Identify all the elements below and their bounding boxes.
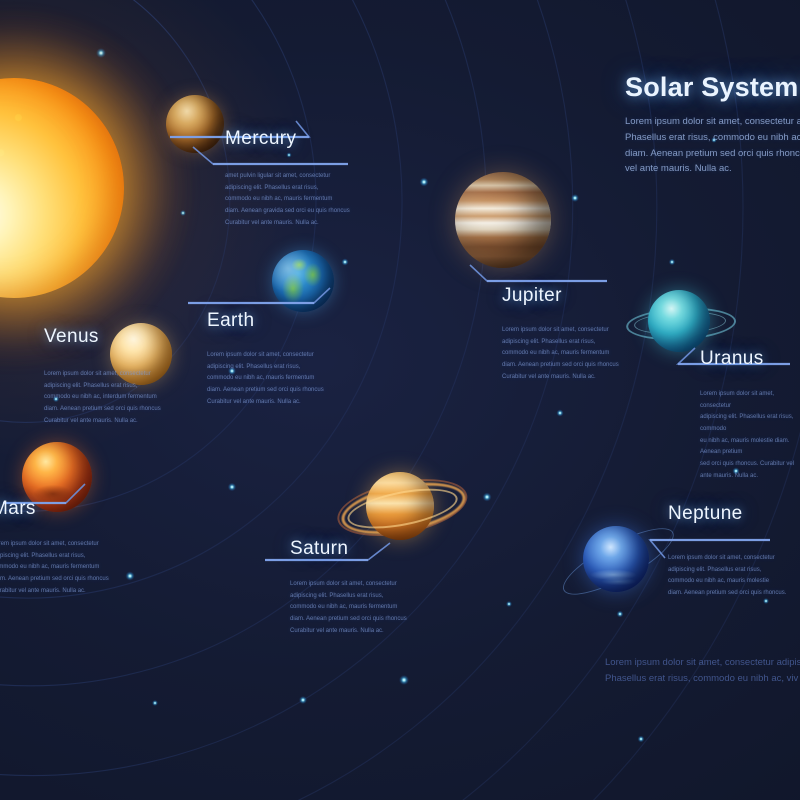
planet-earth[interactable] [272,250,334,312]
planet-jupiter[interactable] [455,172,551,268]
label-mercury[interactable]: Mercury amet pulvin ligular sit amet, co… [225,128,350,229]
label-earth-body: Lorem ipsum dolor sit amet, consectetur … [207,350,324,408]
label-jupiter[interactable]: Jupiter Lorem ipsum dolor sit amet, cons… [502,285,619,383]
solar-system-infographic: Mercury amet pulvin ligular sit amet, co… [0,0,800,800]
planet-mercury[interactable] [166,95,224,153]
label-venus-name: Venus [44,326,161,348]
label-mars[interactable]: Mars Lorem ipsum dolor sit amet, consect… [0,498,109,597]
title-description: Lorem ipsum dolor sit amet, consectetur … [625,114,800,177]
footer-description: Lorem ipsum dolor sit amet, consectetur … [605,655,800,687]
label-mercury-name: Mercury [225,128,350,150]
sun [0,78,124,298]
label-mars-name: Mars [0,498,109,520]
planet-neptune[interactable] [583,526,649,592]
planet-uranus[interactable] [648,290,710,352]
label-saturn-body: Lorem ipsum dolor sit amet, consectetur … [290,579,407,637]
label-mercury-body: amet pulvin ligular sit amet, consectetu… [225,171,350,229]
label-neptune-body: Lorem ipsum dolor sit amet, consectetur … [668,553,786,600]
label-neptune[interactable]: Neptune Lorem ipsum dolor sit amet, cons… [668,503,786,600]
footer-block: Lorem ipsum dolor sit amet, consectetur … [605,655,800,687]
label-uranus-body: Lorem ipsum dolor sit amet, consectetur … [700,389,800,483]
planet-saturn[interactable] [366,472,434,540]
label-mars-body: Lorem ipsum dolor sit amet, consectetur … [0,539,109,597]
label-earth[interactable]: Earth Lorem ipsum dolor sit amet, consec… [207,310,324,408]
title-block: Solar System Pla Lorem ipsum dolor sit a… [625,72,800,177]
label-saturn-name: Saturn [290,538,407,560]
page-title: Solar System Pla [625,72,800,103]
label-earth-name: Earth [207,310,324,332]
label-jupiter-body: Lorem ipsum dolor sit amet, consectetur … [502,325,619,383]
label-venus-body: Lorem ipsum dolor sit amet, consectetur … [44,369,161,427]
label-venus[interactable]: Venus Lorem ipsum dolor sit amet, consec… [44,326,161,427]
label-saturn[interactable]: Saturn Lorem ipsum dolor sit amet, conse… [290,538,407,637]
label-uranus-name: Uranus [700,348,800,370]
label-uranus[interactable]: Uranus Lorem ipsum dolor sit amet, conse… [700,348,800,483]
label-jupiter-name: Jupiter [502,285,619,307]
label-neptune-name: Neptune [668,503,786,525]
